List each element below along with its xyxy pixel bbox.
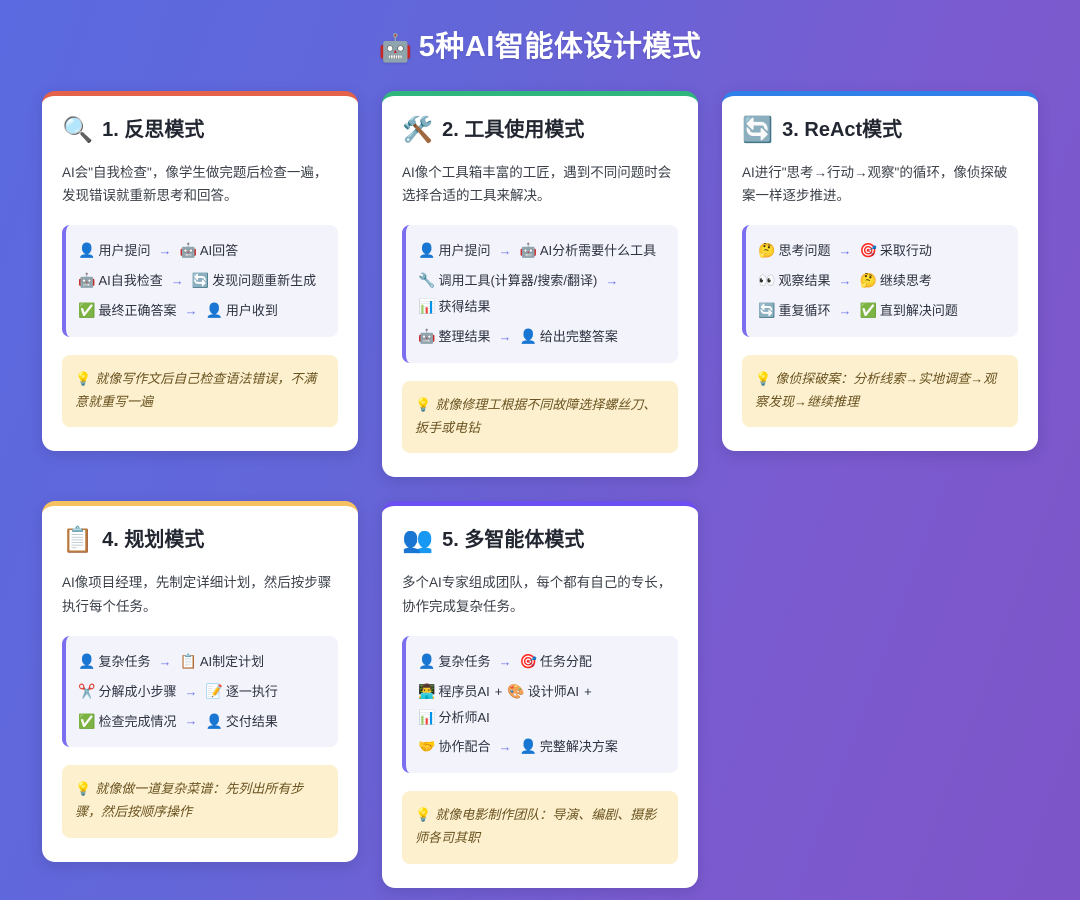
card-title: 2. 工具使用模式 — [442, 118, 584, 143]
scissors-icon: ✂️ — [78, 683, 95, 699]
palette-icon: 🎨 — [507, 683, 524, 699]
flow-node: ✅最终正确答案 — [78, 298, 176, 324]
robot-icon: 🤖 — [78, 272, 95, 288]
card-header: 🔍1. 反思模式 — [62, 118, 338, 143]
flow-arrow-icon: → — [158, 650, 171, 674]
magnifying-glass-icon: 🔍 — [62, 118, 93, 143]
person-icon: 👤 — [519, 328, 536, 344]
flow-row: ✅检查完成情况→👤交付结果 — [78, 709, 324, 735]
tip-text: 就像电影制作团队：导演、编剧、摄影师各司其职 — [415, 807, 656, 845]
clipboard-icon: 📋 — [179, 653, 196, 669]
flow-node-label: 获得结果 — [438, 299, 490, 314]
tools-icon: 🛠️ — [402, 118, 433, 143]
flow-row: 👤复杂任务→🎯任务分配 — [418, 649, 664, 675]
flow-box: 👤复杂任务→📋AI制定计划✂️分解成小步骤→📝逐一执行✅检查完成情况→👤交付结果 — [62, 636, 338, 748]
flow-node-label: 直到解决问题 — [880, 303, 958, 318]
flow-node-label: 完整解决方案 — [540, 739, 618, 754]
eyes-icon: 👀 — [758, 272, 775, 288]
pattern-card: 🔍1. 反思模式AI会"自我检查"，像学生做完题后检查一遍，发现错误就重新思考和… — [42, 91, 358, 452]
flow-plus-symbol: + — [495, 680, 503, 704]
flow-node-label: AI制定计划 — [200, 654, 264, 669]
flow-row: ✅最终正确答案→👤用户收到 — [78, 298, 324, 324]
flow-node-label: 协作配合 — [438, 739, 490, 754]
flow-arrow-icon: → — [184, 709, 197, 733]
flow-row: 🔧调用工具(计算器/搜索/翻译)→📊获得结果 — [418, 268, 664, 320]
pattern-card-grid: 🔍1. 反思模式AI会"自我检查"，像学生做完题后检查一遍，发现错误就重新思考和… — [42, 91, 1038, 888]
flow-arrow-icon: → — [158, 239, 171, 263]
person-icon: 👤 — [519, 738, 536, 754]
flow-node-label: 检查完成情况 — [98, 714, 176, 729]
tip-text: 就像做一道复杂菜谱：先列出所有步骤，然后按顺序操作 — [75, 781, 303, 819]
flow-node-label: 复杂任务 — [438, 654, 490, 669]
flow-node: 👤交付结果 — [205, 709, 277, 735]
flow-row: 🤖整理结果→👤给出完整答案 — [418, 324, 664, 350]
flow-box: 🤔思考问题→🎯采取行动👀观察结果→🤔继续思考🔄重复循环→✅直到解决问题 — [742, 225, 1018, 337]
check-icon: ✅ — [859, 302, 876, 318]
flow-node-label: 复杂任务 — [98, 654, 150, 669]
flow-node: 🤖AI回答 — [179, 238, 238, 264]
flow-node-label: AI自我检查 — [98, 273, 162, 288]
flow-arrow-icon: → — [498, 735, 511, 759]
pattern-card: 👥5. 多智能体模式多个AI专家组成团队，每个都有自己的专长，协作完成复杂任务。… — [382, 501, 698, 888]
flow-box: 👤用户提问→🤖AI分析需要什么工具🔧调用工具(计算器/搜索/翻译)→📊获得结果🤖… — [402, 225, 678, 363]
flow-node-label: 用户提问 — [98, 243, 150, 258]
person-icon: 👤 — [205, 713, 222, 729]
flow-node: 👤用户提问 — [418, 238, 490, 264]
flow-row: ✂️分解成小步骤→📝逐一执行 — [78, 679, 324, 705]
lightbulb-icon: 💡 — [755, 371, 771, 386]
flow-node: 📊分析师AI — [418, 705, 490, 731]
target-icon: 🎯 — [519, 653, 536, 669]
flow-arrow-icon: → — [498, 650, 511, 674]
card-header: 🛠️2. 工具使用模式 — [402, 118, 678, 143]
flow-node: ✅直到解决问题 — [859, 298, 957, 324]
flow-node-label: 用户提问 — [438, 243, 490, 258]
card-description: 多个AI专家组成团队，每个都有自己的专长，协作完成复杂任务。 — [402, 571, 678, 617]
refresh-icon: 🔄 — [192, 272, 209, 288]
flow-node-label: 给出完整答案 — [540, 329, 618, 344]
flow-node: 👤用户提问 — [78, 238, 150, 264]
card-description: AI像个工具箱丰富的工匠，遇到不同问题时会选择合适的工具来解决。 — [402, 161, 678, 207]
flow-node-label: 整理结果 — [438, 329, 490, 344]
flow-node: 🤖整理结果 — [418, 324, 490, 350]
check-icon: ✅ — [78, 302, 95, 318]
lightbulb-icon: 💡 — [75, 371, 91, 386]
person-icon: 👤 — [78, 653, 95, 669]
lightbulb-icon: 💡 — [415, 807, 431, 822]
flow-node-label: 设计师AI — [528, 684, 579, 699]
tip-box: 💡像侦探破案：分析线索→实地调查→观察发现→继续推理 — [742, 355, 1018, 428]
bar-chart-icon: 📊 — [418, 298, 435, 314]
flow-node: 👤给出完整答案 — [519, 324, 617, 350]
flow-node: 🔄重复循环 — [758, 298, 830, 324]
flow-node: 👤完整解决方案 — [519, 734, 617, 760]
lightbulb-icon: 💡 — [415, 397, 431, 412]
flow-node-label: 思考问题 — [778, 243, 830, 258]
flow-arrow-icon: → — [498, 239, 511, 263]
tip-box: 💡就像修理工根据不同故障选择螺丝刀、扳手或电钻 — [402, 381, 678, 454]
flow-node: ✅检查完成情况 — [78, 709, 176, 735]
person-icon: 👤 — [78, 242, 95, 258]
tip-box: 💡就像做一道复杂菜谱：先列出所有步骤，然后按顺序操作 — [62, 765, 338, 838]
tip-text: 就像写作文后自己检查语法错误，不满意就重写一遍 — [75, 371, 316, 409]
flow-arrow-icon: → — [171, 269, 184, 293]
flow-node: 👀观察结果 — [758, 268, 830, 294]
people-icon: 👥 — [402, 528, 433, 553]
flow-node: 👨‍💻程序员AI — [418, 679, 490, 705]
flow-node: 🎯采取行动 — [859, 238, 931, 264]
flow-node-label: 任务分配 — [540, 654, 592, 669]
memo-icon: 📝 — [205, 683, 222, 699]
flow-arrow-icon: → — [184, 680, 197, 704]
target-icon: 🎯 — [859, 242, 876, 258]
flow-row: 👤用户提问→🤖AI回答 — [78, 238, 324, 264]
card-description: AI像项目经理，先制定详细计划，然后按步骤执行每个任务。 — [62, 571, 338, 617]
developer-icon: 👨‍💻 — [418, 683, 435, 699]
robot-icon: 🤖 — [179, 242, 196, 258]
pattern-card: 🛠️2. 工具使用模式AI像个工具箱丰富的工匠，遇到不同问题时会选择合适的工具来… — [382, 91, 698, 478]
flow-row: 🤖AI自我检查→🔄发现问题重新生成 — [78, 268, 324, 294]
refresh-icon: 🔄 — [758, 302, 775, 318]
tip-box: 💡就像电影制作团队：导演、编剧、摄影师各司其职 — [402, 791, 678, 864]
person-icon: 👤 — [205, 302, 222, 318]
flow-box: 👤复杂任务→🎯任务分配👨‍💻程序员AI+🎨设计师AI+📊分析师AI🤝协作配合→👤… — [402, 636, 678, 774]
flow-row: 🔄重复循环→✅直到解决问题 — [758, 298, 1004, 324]
flow-arrow-icon: → — [498, 325, 511, 349]
flow-row: 👀观察结果→🤔继续思考 — [758, 268, 1004, 294]
flow-arrow-icon: → — [184, 299, 197, 323]
flow-node: 🎨设计师AI — [507, 679, 579, 705]
flow-node: 👤复杂任务 — [78, 649, 150, 675]
flow-node-label: 发现问题重新生成 — [212, 273, 316, 288]
flow-node: 📊获得结果 — [418, 294, 490, 320]
flow-node: 🔧调用工具(计算器/搜索/翻译) — [418, 268, 597, 294]
flow-node-label: AI回答 — [200, 243, 238, 258]
card-description: AI进行"思考→行动→观察"的循环，像侦探破案一样逐步推进。 — [742, 161, 1018, 207]
flow-node-label: 采取行动 — [880, 243, 932, 258]
page-title-text: 5种AI智能体设计模式 — [419, 31, 702, 63]
flow-node: 👤用户收到 — [205, 298, 277, 324]
pattern-card: 📋4. 规划模式AI像项目经理，先制定详细计划，然后按步骤执行每个任务。👤复杂任… — [42, 501, 358, 862]
flow-node-label: 逐一执行 — [226, 684, 278, 699]
thinking-face-icon: 🤔 — [859, 272, 876, 288]
flow-node-label: 重复循环 — [778, 303, 830, 318]
flow-row: 🤝协作配合→👤完整解决方案 — [418, 734, 664, 760]
card-title: 5. 多智能体模式 — [442, 528, 584, 553]
flow-row: 🤔思考问题→🎯采取行动 — [758, 238, 1004, 264]
flow-row: 👤用户提问→🤖AI分析需要什么工具 — [418, 238, 664, 264]
flow-node-label: 用户收到 — [226, 303, 278, 318]
robot-icon: 🤖 — [519, 242, 536, 258]
card-header: 🔄3. ReAct模式 — [742, 118, 1018, 143]
tip-text: 像侦探破案：分析线索→实地调查→观察发现→继续推理 — [755, 371, 996, 409]
clipboard-icon: 📋 — [62, 528, 93, 553]
bar-chart-icon: 📊 — [418, 709, 435, 725]
thinking-face-icon: 🤔 — [758, 242, 775, 258]
flow-box: 👤用户提问→🤖AI回答🤖AI自我检查→🔄发现问题重新生成✅最终正确答案→👤用户收… — [62, 225, 338, 337]
flow-node: 📝逐一执行 — [205, 679, 277, 705]
flow-node: 🎯任务分配 — [519, 649, 591, 675]
card-title: 1. 反思模式 — [102, 118, 204, 143]
flow-row: 👤复杂任务→📋AI制定计划 — [78, 649, 324, 675]
wrench-icon: 🔧 — [418, 272, 435, 288]
flow-node: 🤖AI自我检查 — [78, 268, 163, 294]
card-title: 4. 规划模式 — [102, 528, 204, 553]
person-icon: 👤 — [418, 242, 435, 258]
flow-node-label: AI分析需要什么工具 — [540, 243, 656, 258]
flow-node-label: 最终正确答案 — [98, 303, 176, 318]
refresh-icon: 🔄 — [742, 118, 773, 143]
flow-node-label: 分解成小步骤 — [98, 684, 176, 699]
tip-text: 就像修理工根据不同故障选择螺丝刀、扳手或电钻 — [415, 397, 656, 435]
flow-plus-symbol: + — [584, 680, 592, 704]
flow-node: 🔄发现问题重新生成 — [192, 268, 316, 294]
flow-node-label: 交付结果 — [226, 714, 278, 729]
robot-icon: 🤖 — [418, 328, 435, 344]
card-header: 📋4. 规划模式 — [62, 528, 338, 553]
page-root: 🤖5种AI智能体设计模式 🔍1. 反思模式AI会"自我检查"，像学生做完题后检查… — [0, 0, 1080, 900]
lightbulb-icon: 💡 — [75, 781, 91, 796]
flow-arrow-icon: → — [838, 269, 851, 293]
flow-node-label: 程序员AI — [438, 684, 489, 699]
person-icon: 👤 — [418, 653, 435, 669]
card-title: 3. ReAct模式 — [782, 118, 902, 143]
flow-node: 📋AI制定计划 — [179, 649, 264, 675]
handshake-icon: 🤝 — [418, 738, 435, 754]
flow-node-label: 调用工具(计算器/搜索/翻译) — [438, 273, 597, 288]
flow-node: 🤝协作配合 — [418, 734, 490, 760]
flow-arrow-icon: → — [838, 239, 851, 263]
card-header: 👥5. 多智能体模式 — [402, 528, 678, 553]
card-description: AI会"自我检查"，像学生做完题后检查一遍，发现错误就重新思考和回答。 — [62, 161, 338, 207]
flow-arrow-icon: → — [838, 299, 851, 323]
tip-box: 💡就像写作文后自己检查语法错误，不满意就重写一遍 — [62, 355, 338, 428]
flow-node: 👤复杂任务 — [418, 649, 490, 675]
flow-row: 👨‍💻程序员AI+🎨设计师AI+📊分析师AI — [418, 679, 664, 731]
flow-node: ✂️分解成小步骤 — [78, 679, 176, 705]
page-title: 🤖5种AI智能体设计模式 — [42, 18, 1038, 91]
flow-node: 🤖AI分析需要什么工具 — [519, 238, 656, 264]
flow-node-label: 分析师AI — [438, 710, 489, 725]
flow-node: 🤔思考问题 — [758, 238, 830, 264]
pattern-card: 🔄3. ReAct模式AI进行"思考→行动→观察"的循环，像侦探破案一样逐步推进… — [722, 91, 1038, 452]
check-icon: ✅ — [78, 713, 95, 729]
flow-node-label: 继续思考 — [880, 273, 932, 288]
flow-node: 🤔继续思考 — [859, 268, 931, 294]
robot-icon: 🤖 — [379, 33, 413, 63]
flow-node-label: 观察结果 — [778, 273, 830, 288]
flow-arrow-icon: → — [605, 269, 618, 293]
